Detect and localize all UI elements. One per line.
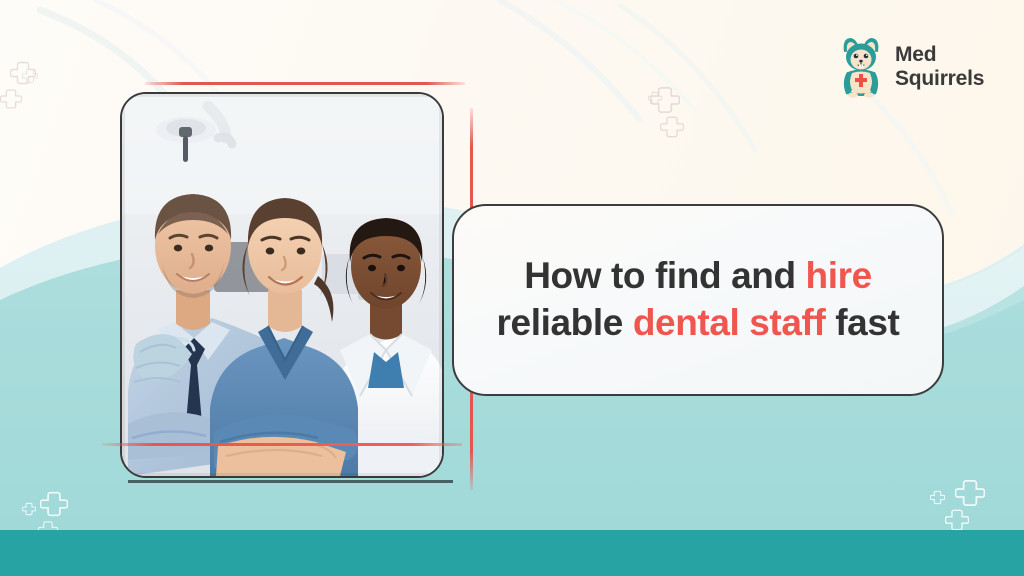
medical-plus-icon (945, 508, 969, 532)
brand-logo[interactable]: Med Squirrels (838, 36, 984, 98)
photo-frame-line-bottom (128, 480, 453, 483)
medical-plus-icon (955, 478, 985, 508)
headline-line2-accent: dental staff (633, 302, 826, 343)
medical-plus-icon (660, 115, 684, 139)
bottom-accent-bar (0, 530, 1024, 576)
photo-accent-line-top (145, 82, 465, 85)
hero-photo-group (120, 92, 440, 474)
headline-line2-plain-start: reliable (497, 302, 633, 343)
dental-team-photo (122, 94, 442, 476)
headline-line1-plain: How to find and (524, 255, 805, 296)
brand-name: Med Squirrels (895, 43, 984, 92)
headline-line1-accent: hire (806, 255, 872, 296)
medical-plus-icon (22, 68, 38, 84)
squirrel-mascot-icon (838, 36, 884, 98)
photo-accent-line-middle (102, 443, 462, 446)
medical-plus-icon (22, 502, 36, 516)
medical-plus-icon (40, 490, 68, 518)
medical-plus-icon (930, 490, 945, 505)
brand-name-line2: Squirrels (895, 67, 984, 91)
brand-name-line1: Med (895, 43, 984, 67)
medical-plus-icon (648, 91, 662, 105)
headline-card: How to find and hire reliable dental sta… (452, 204, 944, 396)
headline-line2-plain-end: fast (825, 302, 899, 343)
banner-canvas: How to find and hire reliable dental sta… (0, 0, 1024, 576)
page-title: How to find and hire reliable dental sta… (477, 253, 920, 346)
hero-photo-card (120, 92, 444, 478)
medical-plus-icon (0, 88, 22, 110)
